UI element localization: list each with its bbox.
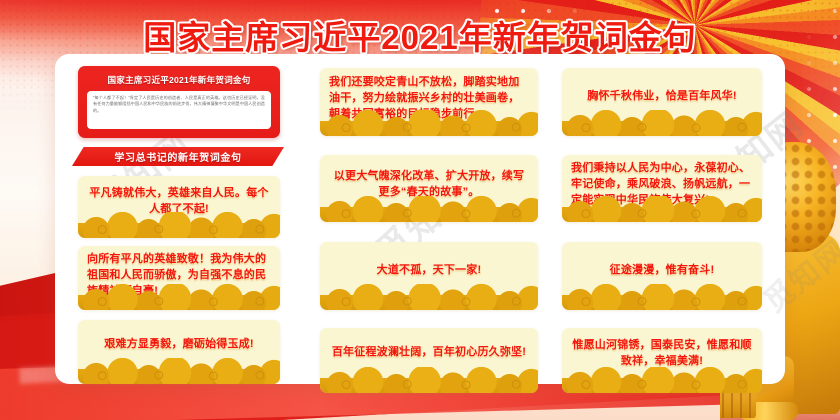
quote-card[interactable]: 向所有平凡的英雄致敬！我为伟大的祖国和人民而骄傲，为自强不息的民族精神而自豪! bbox=[78, 246, 280, 310]
quote-card[interactable]: 征途漫漫，惟有奋斗! bbox=[562, 242, 762, 310]
quote-text: 艰难方显勇毅，磨砺始得玉成! bbox=[87, 336, 271, 352]
gold-cloud-swirls bbox=[320, 114, 538, 136]
quote-card[interactable]: 惟愿山河锦锈，国泰民安，惟愿和顺致祥，幸福美满! bbox=[562, 328, 762, 393]
quote-card-grid: 平凡铸就伟大，英雄来自人民。每个人都了不起! 我们还要咬定青山不放松，脚踏实地加… bbox=[0, 0, 840, 420]
gold-cloud-swirls bbox=[320, 371, 538, 393]
poster-canvas: 国家主席习近平2021年新年贺词金句 觅知网 觅知网 觅知网 觅知网 国家主席习… bbox=[0, 0, 840, 420]
gold-cloud-swirls bbox=[78, 216, 280, 238]
gold-cloud-swirls bbox=[562, 200, 762, 222]
gold-cloud-swirls bbox=[78, 288, 280, 310]
quote-card[interactable]: 大道不孤，天下一家! bbox=[320, 242, 538, 310]
quote-text: 大道不孤，天下一家! bbox=[329, 262, 529, 278]
gold-cloud-swirls bbox=[562, 288, 762, 310]
quote-text: 惟愿山河锦锈，国泰民安，惟愿和顺致祥，幸福美满! bbox=[571, 337, 753, 369]
gold-cloud-swirls bbox=[320, 288, 538, 310]
gold-cloud-swirls bbox=[320, 200, 538, 222]
gold-cloud-swirls bbox=[78, 362, 280, 384]
quote-card[interactable]: 平凡铸就伟大，英雄来自人民。每个人都了不起! bbox=[78, 176, 280, 238]
gold-cloud-swirls bbox=[562, 114, 762, 136]
quote-card[interactable]: 我们秉持以人民为中心，永葆初心、牢记使命，乘风破浪、扬帆远航，一定能实现中华民族… bbox=[562, 155, 762, 222]
quote-card[interactable]: 我们还要咬定青山不放松，脚踏实地加油干，努力绘就振兴乡村的壮美画卷，朝着共同富裕… bbox=[320, 68, 538, 136]
quote-card[interactable]: 以更大气魄深化改革、扩大开放，续写更多“春天的故事”。 bbox=[320, 155, 538, 222]
quote-card[interactable]: 胸怀千秋伟业，恰是百年风华! bbox=[562, 68, 762, 136]
quote-text: 百年征程波澜壮阔，百年初心历久弥坚! bbox=[329, 344, 529, 360]
quote-text: 胸怀千秋伟业，恰是百年风华! bbox=[571, 88, 753, 104]
quote-card[interactable]: 百年征程波澜壮阔，百年初心历久弥坚! bbox=[320, 328, 538, 393]
gold-cloud-swirls bbox=[562, 371, 762, 393]
quote-card[interactable]: 艰难方显勇毅，磨砺始得玉成! bbox=[78, 320, 280, 384]
quote-text: 征途漫漫，惟有奋斗! bbox=[571, 262, 753, 278]
